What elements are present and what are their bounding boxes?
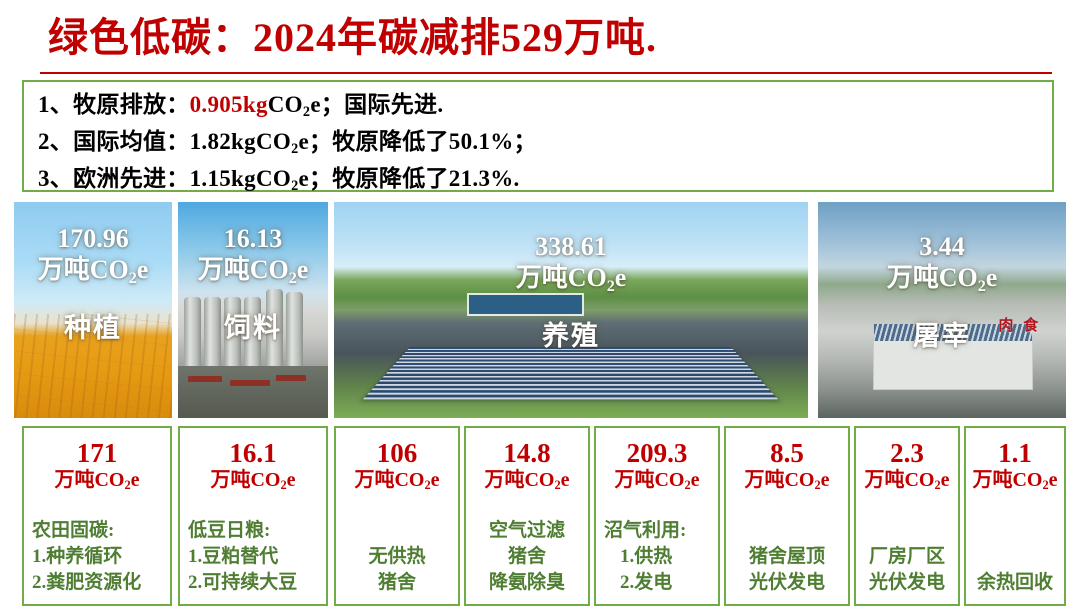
pond-shape <box>467 293 585 316</box>
silo-icon <box>286 292 303 367</box>
info-line-3-suffix: e；牧原降低了21.3%. <box>299 166 520 191</box>
measure-card-4-unit: 万吨CO2e <box>466 468 588 494</box>
photo-4-unit: 万吨CO2e <box>818 262 1066 298</box>
benchmark-info-box: 1、牧原排放：0.905kgCO2e；国际先进. 2、国际均值：1.82kgCO… <box>22 80 1054 192</box>
silo-icon <box>266 289 283 366</box>
measure-card-4-value: 14.8 <box>466 438 588 468</box>
info-line-2-subscript: 2 <box>291 141 298 157</box>
measure-card-3-unit-post: e <box>431 469 440 491</box>
info-line-3-subscript: 2 <box>291 178 298 194</box>
photo-1-unit-sub: 2 <box>129 270 137 287</box>
measure-card-4-line: 空气过滤 <box>472 518 582 544</box>
measure-card-8-line: 余热回收 <box>972 570 1058 596</box>
parking-lot <box>178 366 328 418</box>
slide-root: 绿色低碳：2024年碳减排529万吨. 1、牧原排放：0.905kgCO2e；国… <box>0 0 1080 610</box>
measure-card-7-body: 厂房厂区 光伏发电 <box>856 544 958 596</box>
measure-card-2-unit-post: e <box>287 469 296 491</box>
plant-logo: 肉 食 <box>998 314 1041 335</box>
measure-card-3[interactable]: 106 万吨CO2e 无供热 猪舍 <box>334 426 460 606</box>
silo-icon <box>204 297 221 366</box>
info-line-1-highlight: 0.905kg <box>190 92 268 117</box>
measure-card-3-value: 106 <box>336 438 458 468</box>
measure-card-7-unit-pre: 万吨CO <box>864 469 934 491</box>
measure-card-4[interactable]: 14.8 万吨CO2e 空气过滤 猪舍 降氨除臭 <box>464 426 590 606</box>
measure-card-1-unit-pre: 万吨CO <box>54 469 124 491</box>
measure-card-2-unit: 万吨CO2e <box>180 468 326 494</box>
measure-card-4-unit-post: e <box>561 469 570 491</box>
info-line-1-prefix: 1、牧原排放： <box>38 92 190 117</box>
measure-card-7-value: 2.3 <box>856 438 958 468</box>
photo-2-unit: 万吨CO2e <box>178 254 328 290</box>
photo-3-value: 338.61 <box>334 232 808 262</box>
info-line-2-prefix: 2、国际均值：1.82kg <box>38 129 256 154</box>
measure-card-6-unit-pre: 万吨CO <box>744 469 814 491</box>
photo-1-unit: 万吨CO2e <box>14 254 172 290</box>
measure-card-5-body: 沼气利用: 1.供热 2.发电 <box>596 518 718 596</box>
measure-card-3-unit-sub: 2 <box>424 478 430 492</box>
photo-panel-feed: 16.13 万吨CO2e 饲料 <box>178 202 328 418</box>
info-line-2-suffix: e；牧原降低了50.1%； <box>299 129 537 154</box>
info-line-3-unit: CO <box>256 166 291 191</box>
measure-card-5-unit-sub: 2 <box>684 478 690 492</box>
info-line-1-subscript: 2 <box>303 104 310 120</box>
photo-panel-slaughter: 肉 食 3.44 万吨CO2e 屠宰 <box>818 202 1066 418</box>
photo-4-value: 3.44 <box>818 232 1066 262</box>
measure-card-7-line: 光伏发电 <box>862 570 952 596</box>
measure-card-2[interactable]: 16.1 万吨CO2e 低豆日粮: 1.豆粕替代 2.可持续大豆 <box>178 426 328 606</box>
photo-panel-planting: 170.96 万吨CO2e 种植 <box>14 202 172 418</box>
photo-3-unit-pre: 万吨CO <box>516 263 607 292</box>
measure-card-3-body: 无供热 猪舍 <box>336 544 458 596</box>
photo-1-value: 170.96 <box>14 224 172 254</box>
measure-card-5-unit-post: e <box>691 469 700 491</box>
photo-2-unit-pre: 万吨CO <box>198 255 289 284</box>
photo-4-unit-post: e <box>986 263 998 292</box>
measure-card-3-line: 猪舍 <box>342 570 452 596</box>
measure-card-2-line: 2.可持续大豆 <box>188 570 320 596</box>
info-line-1-unit: CO <box>268 92 303 117</box>
truck-icon <box>188 376 222 382</box>
measure-card-1-line: 1.种养循环 <box>32 544 164 570</box>
measure-card-1-unit: 万吨CO2e <box>24 468 170 494</box>
measure-card-2-line: 1.豆粕替代 <box>188 544 320 570</box>
photo-4-unit-sub: 2 <box>978 278 986 295</box>
silo-group <box>180 297 326 366</box>
measure-card-4-unit-sub: 2 <box>554 478 560 492</box>
info-line-2-unit: CO <box>256 129 291 154</box>
measure-card-8-unit-sub: 2 <box>1042 478 1048 492</box>
photo-3-unit-post: e <box>615 263 627 292</box>
measure-card-1[interactable]: 171 万吨CO2e 农田固碳: 1.种养循环 2.粪肥资源化 <box>22 426 172 606</box>
measure-card-5-line: 2.发电 <box>604 570 712 596</box>
measure-card-7-line: 厂房厂区 <box>862 544 952 570</box>
measure-card-8-unit-post: e <box>1049 469 1058 491</box>
silo-icon <box>244 297 261 366</box>
measure-card-7-unit-post: e <box>941 469 950 491</box>
photo-3-unit-sub: 2 <box>607 278 615 295</box>
measure-card-5-unit: 万吨CO2e <box>596 468 718 494</box>
measure-card-6[interactable]: 8.5 万吨CO2e 猪舍屋顶 光伏发电 <box>724 426 850 606</box>
measure-card-2-line: 低豆日粮: <box>188 518 320 544</box>
measure-card-3-line: 无供热 <box>342 544 452 570</box>
measure-card-1-body: 农田固碳: 1.种养循环 2.粪肥资源化 <box>24 518 170 596</box>
measure-card-4-unit-pre: 万吨CO <box>484 469 554 491</box>
measure-card-4-line: 降氨除臭 <box>472 570 582 596</box>
measure-card-5[interactable]: 209.3 万吨CO2e 沼气利用: 1.供热 2.发电 <box>594 426 720 606</box>
info-line-2: 2、国际均值：1.82kgCO2e；牧原降低了50.1%； <box>38 125 1052 162</box>
truck-icon <box>276 375 306 381</box>
photo-panel-breeding: 338.61 万吨CO2e 养殖 <box>334 202 808 418</box>
photo-1-unit-post: e <box>137 255 149 284</box>
title-underline <box>40 72 1052 74</box>
measure-card-3-unit: 万吨CO2e <box>336 468 458 494</box>
measure-card-5-line: 1.供热 <box>604 544 712 570</box>
field-texture <box>14 314 172 418</box>
measure-card-6-body: 猪舍屋顶 光伏发电 <box>726 544 848 596</box>
info-line-1-suffix: e；国际先进. <box>310 92 443 117</box>
measure-card-1-unit-sub: 2 <box>124 478 130 492</box>
photo-2-unit-sub: 2 <box>289 270 297 287</box>
measure-card-7[interactable]: 2.3 万吨CO2e 厂房厂区 光伏发电 <box>854 426 960 606</box>
measure-card-1-value: 171 <box>24 438 170 468</box>
measure-card-2-unit-pre: 万吨CO <box>210 469 280 491</box>
info-line-1: 1、牧原排放：0.905kgCO2e；国际先进. <box>38 88 1052 125</box>
photo-1-unit-pre: 万吨CO <box>38 255 129 284</box>
info-line-3: 3、欧洲先进：1.15kgCO2e；牧原降低了21.3%. <box>38 162 1052 199</box>
silo-icon <box>224 297 241 366</box>
measure-card-5-line: 沼气利用: <box>604 518 712 544</box>
photo-2-value: 16.13 <box>178 224 328 254</box>
measure-card-7-unit: 万吨CO2e <box>856 468 958 494</box>
measure-card-1-unit-post: e <box>131 469 140 491</box>
info-line-3-prefix: 3、欧洲先进：1.15kg <box>38 166 256 191</box>
photo-2-unit-post: e <box>297 255 309 284</box>
measure-card-8-unit-pre: 万吨CO <box>972 469 1042 491</box>
measure-card-6-value: 8.5 <box>726 438 848 468</box>
measure-card-6-line: 猪舍屋顶 <box>732 544 842 570</box>
measure-card-4-line: 猪舍 <box>472 544 582 570</box>
measure-card-3-unit-pre: 万吨CO <box>354 469 424 491</box>
measure-card-2-value: 16.1 <box>180 438 326 468</box>
measure-card-6-unit-post: e <box>821 469 830 491</box>
measure-card-5-value: 209.3 <box>596 438 718 468</box>
measure-card-8-unit: 万吨CO2e <box>966 468 1064 494</box>
measure-card-8-value: 1.1 <box>966 438 1064 468</box>
page-title: 绿色低碳：2024年碳减排529万吨. <box>48 12 657 64</box>
measure-card-5-unit-pre: 万吨CO <box>614 469 684 491</box>
measure-card-1-line: 农田固碳: <box>32 518 164 544</box>
truck-icon <box>230 380 270 386</box>
measure-card-2-unit-sub: 2 <box>280 478 286 492</box>
title-block: 绿色低碳：2024年碳减排529万吨. <box>0 12 1080 68</box>
measure-card-8-body: 余热回收 <box>966 570 1064 596</box>
silo-icon <box>184 297 201 366</box>
measure-card-8[interactable]: 1.1 万吨CO2e 余热回收 <box>964 426 1066 606</box>
measure-card-6-unit: 万吨CO2e <box>726 468 848 494</box>
measure-card-6-line: 光伏发电 <box>732 570 842 596</box>
solar-array <box>362 348 779 401</box>
measure-card-2-body: 低豆日粮: 1.豆粕替代 2.可持续大豆 <box>180 518 326 596</box>
photo-4-unit-pre: 万吨CO <box>887 263 978 292</box>
measure-card-1-line: 2.粪肥资源化 <box>32 570 164 596</box>
measure-card-6-unit-sub: 2 <box>814 478 820 492</box>
measure-card-7-unit-sub: 2 <box>934 478 940 492</box>
measure-card-4-body: 空气过滤 猪舍 降氨除臭 <box>466 518 588 596</box>
